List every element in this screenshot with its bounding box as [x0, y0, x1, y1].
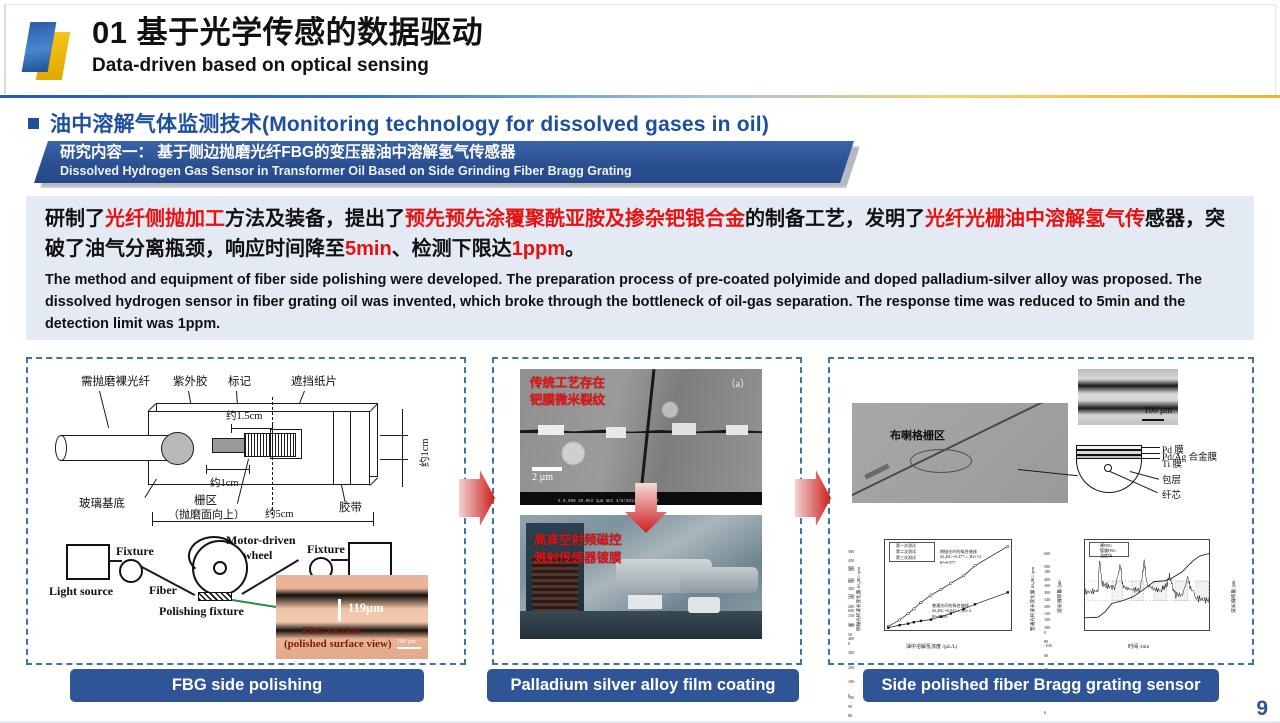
lab-annotation-line2: 溅射传感器镀膜 — [534, 549, 622, 567]
layer-leader — [1142, 458, 1160, 459]
page-title-cn: 01 基于光学传感的数据驱动 — [92, 14, 483, 52]
axis-tick-label: 160 — [1044, 583, 1058, 588]
bragg-zone-label: 布喇格栅区 — [890, 427, 945, 443]
axis-tick-label: 450 — [848, 558, 862, 563]
chart-response: 波长偏移量 /pm 波长偏移量 /pm 时间 /min 裸FBG 镀膜FBG 温… — [1044, 531, 1240, 659]
summary-text-en: The method and equipment of fiber side p… — [45, 269, 1245, 335]
chart-b-plot — [1084, 539, 1210, 631]
axis-tick-label: 800 — [848, 579, 862, 584]
caption-sensor: Side polished fiber Bragg grating sensor — [863, 669, 1219, 702]
dim-line — [231, 428, 273, 429]
axis-tick-label: 200 — [1044, 604, 1058, 609]
panel-fbg-side-polishing: 需抛磨裸光纤 紫外胶 标记 遮挡纸片 — [26, 357, 466, 665]
label-marker: 标记 — [228, 373, 251, 389]
label-light-source: Light source — [49, 584, 113, 599]
pulley-left — [119, 559, 143, 583]
summary-highlight: 1ppm — [512, 238, 565, 260]
dim-line — [206, 469, 250, 470]
diameter-arrow-icon — [338, 599, 341, 621]
chart-a-xlabel: 油中溶解氢浓度 /(µL/L) — [906, 643, 957, 650]
lab-white-tray — [628, 595, 662, 609]
dim-ext-line — [380, 435, 408, 436]
axis-tick-label: 300 — [848, 586, 862, 591]
dim-tick — [249, 465, 250, 474]
dim-line — [152, 521, 374, 522]
sem-bright-flake — [606, 427, 626, 438]
fiber-path — [110, 560, 122, 562]
leader-line — [99, 391, 109, 428]
label-uv-glue: 紫外胶 — [173, 373, 208, 389]
panel-side-polished-sensor: 布喇格栅区 100 µm Pd 膜 Pd/Ag 合金膜 Ti 膜 包层 纤芯 — [828, 357, 1254, 665]
section-heading-text: 油中溶解气体监测技术(Monitoring technology for dis… — [50, 108, 769, 138]
inset-scalebar-label: 100 µm — [397, 639, 416, 645]
summary-text-cn: 研制了光纤侧抛加工方法及装备，提出了预先预先涂覆聚酰亚胺及掺杂钯银合金的制备工艺… — [45, 204, 1241, 264]
layer-label-ti: Ti 膜 — [1162, 456, 1182, 470]
bullet-square-icon — [28, 118, 39, 129]
summary-highlight: 5min — [345, 238, 392, 260]
axis-tick-label: 150 — [848, 613, 862, 618]
axis-tick-label: 500 — [848, 622, 862, 627]
sem-panel-tag: （a） — [726, 375, 750, 390]
axis-tick-label: 90 — [848, 704, 862, 709]
axis-tick-label: 400 — [1044, 577, 1058, 582]
label-glass-substrate: 玻璃基底 — [79, 495, 125, 511]
axis-tick-label: 6 — [1044, 710, 1058, 715]
lab-white-box — [688, 597, 720, 613]
sem-scale-label: 2 µm — [532, 472, 553, 483]
axis-tick-label: 0 — [1044, 630, 1058, 635]
dim-line-vertical — [402, 409, 403, 487]
chart-a-plot — [884, 539, 1012, 631]
dim-tick — [206, 465, 207, 474]
label-shield-paper: 遮挡纸片 — [291, 373, 337, 389]
inset-caption-2: (polished surface view) — [284, 638, 392, 650]
lab-chamber-tube — [680, 567, 758, 593]
axis-tick-label: 0 — [848, 693, 862, 698]
sem-bright-flake — [726, 425, 748, 435]
label-tape: 胶带 — [339, 499, 362, 515]
fiber-cylinder — [60, 435, 170, 461]
axis-tick-label: 80 — [1044, 639, 1058, 644]
layer-leader — [1142, 447, 1160, 448]
axis-tick-label: 400 — [848, 636, 862, 641]
fiber-end-ellipse — [55, 435, 67, 461]
power-meter-box — [348, 542, 392, 578]
layer-label-core: 纤芯 — [1162, 487, 1181, 501]
label-polishing-fixture: Polishing fixture — [159, 604, 244, 619]
label-motor-wheel-2: wheel — [243, 548, 272, 563]
lab-bench — [520, 611, 762, 639]
micrograph-scale-label: 100 µm — [1144, 405, 1172, 415]
tape-line — [333, 411, 334, 485]
dim-label-5cm: 约5cm — [265, 506, 294, 521]
axis-tick-label: 600 — [848, 608, 862, 613]
label-bare-fiber: 需抛磨裸光纤 — [81, 373, 150, 389]
page-title-en: Data-driven based on optical sensing — [92, 53, 483, 79]
fiber-path — [331, 559, 349, 561]
label-fiber: Fiber — [149, 583, 177, 598]
axis-tick-label: 500 — [848, 549, 862, 554]
summary-highlight: 光纤光栅油中溶解氢气传 — [925, 208, 1145, 230]
fbg-section-inset: 119µm FBG section (polished surface view… — [276, 575, 428, 659]
summary-plain: 研制了 — [45, 208, 105, 230]
dim-tick — [373, 512, 374, 526]
axis-tick-label: 100 — [1044, 617, 1058, 622]
uv-glue-blob — [161, 432, 194, 465]
dim-tick — [231, 424, 232, 433]
slide-header: 01 基于光学传感的数据驱动 Data-driven based on opti… — [0, 0, 1280, 96]
polishing-fixture-block — [198, 592, 232, 601]
shield-paper-rect — [270, 429, 302, 459]
layer-leader — [1142, 453, 1160, 454]
axis-tick-label: 300 — [848, 650, 862, 655]
bragg-zone-ellipse — [910, 449, 972, 473]
dim-label-1cm-v: 约1cm — [417, 438, 432, 467]
slab-edge — [370, 477, 379, 486]
summary-plain: 的制备工艺，发明了 — [745, 208, 925, 230]
lab-annotation-red: 高真空射频磁控 溅射传感器镀膜 — [534, 531, 622, 567]
layer-label-cladding: 包层 — [1162, 472, 1181, 486]
sem-scalebar — [532, 467, 562, 471]
axis-tick-label: 200 — [848, 665, 862, 670]
label-fixture-right: Fixture — [307, 542, 345, 557]
axis-tick-label: 300 — [1044, 590, 1058, 595]
lab-annotation-line1: 高真空射频磁控 — [534, 531, 622, 549]
inset-caption-1: FBG section — [302, 625, 360, 637]
summary-plain: 、检测下限达 — [392, 238, 512, 260]
axis-tick-label: 60 — [1044, 653, 1058, 658]
section-heading: 油中溶解气体监测技术(Monitoring technology for dis… — [28, 108, 769, 138]
sem-bright-flake — [538, 425, 564, 435]
axis-tick-label: 700 — [848, 593, 862, 598]
caption-fbg-side-polishing: FBG side polishing — [70, 669, 424, 702]
header-divider-gradient — [0, 95, 1280, 98]
label-fixture-left: Fixture — [116, 544, 154, 559]
label-motor-wheel-1: Motor-driven — [226, 533, 296, 548]
center-dashed-line — [272, 397, 273, 515]
dim-label-1-5cm: 约1.5cm — [226, 408, 262, 423]
dim-ext-line — [380, 459, 408, 460]
sem-bright-flake — [672, 423, 696, 435]
dim-tick — [272, 424, 273, 433]
chart-calibration: 侧抛光纤波长变化量 Δλ₁BG /pm 普通光纤波长变化量 Δλ₂BG /pm … — [848, 531, 1038, 659]
chart-b-ylabel-right: 波长偏移量 /pm — [1230, 580, 1237, 613]
banner-title-cn: 研究内容一： 基于侧边抛磨光纤FBG的变压器油中溶解氢气传感器 — [60, 143, 516, 163]
header-titles: 01 基于光学传感的数据驱动 Data-driven based on opti… — [92, 14, 483, 79]
inset-diameter-label: 119µm — [348, 601, 384, 616]
lab-photo: 高真空射频磁控 溅射传感器镀膜 — [520, 515, 762, 639]
research-banner: 研究内容一： 基于侧边抛磨光纤FBG的变压器油中溶解氢气传感器 Dissolve… — [34, 141, 854, 185]
axis-tick-label: 900 — [848, 565, 862, 570]
sem-annotation-line1: 传统工艺存在 — [530, 375, 605, 392]
fiber-micrograph: 100 µm — [1078, 369, 1178, 425]
summary-highlight: 光纤侧抛加工 — [105, 208, 225, 230]
marker-rect — [212, 438, 247, 453]
sem-annotation-red: 传统工艺存在 钯膜微米裂纹 — [530, 375, 605, 409]
summary-panel: 研制了光纤侧抛加工方法及装备，提出了预先预先涂覆聚酰亚胺及掺杂钯银合金的制备工艺… — [26, 196, 1254, 340]
summary-plain: 。 — [565, 238, 585, 260]
summary-plain: 方法及装备，提出了 — [225, 208, 405, 230]
chart-b-xlabel: 时间 /min — [1128, 643, 1149, 650]
page-number: 9 — [1256, 697, 1268, 721]
dim-tick — [152, 512, 153, 526]
fiber-photo: 布喇格栅区 — [852, 403, 1068, 503]
axis-tick-label: 100 — [848, 679, 862, 684]
axis-tick-label: 600 — [1044, 551, 1058, 556]
caption-palladium-coating: Palladium silver alloy film coating — [487, 669, 799, 702]
tape-line — [350, 411, 351, 485]
axis-tick-label: 80 — [848, 713, 862, 718]
label-grating-zone-sub: （抛磨面向上） — [168, 506, 245, 522]
summary-highlight: 预先预先涂覆聚酰亚胺及掺杂钯银合金 — [405, 208, 745, 230]
banner-title-en: Dissolved Hydrogen Gas Sensor in Transfo… — [60, 162, 632, 180]
axis-tick-label: 120 — [1044, 611, 1058, 616]
dim-label-1cm-h: 约1cm — [210, 475, 239, 490]
micrograph-scalebar — [1142, 419, 1164, 421]
axis-tick-label: 100 — [1044, 625, 1058, 630]
axis-tick-label: 140 — [1044, 597, 1058, 602]
slide: 01 基于光学传感的数据驱动 Data-driven based on opti… — [0, 0, 1280, 723]
inset-scalebar — [397, 647, 421, 649]
sem-annotation-line2: 钯膜微米裂纹 — [530, 392, 605, 409]
axis-tick-label: 180 — [1044, 569, 1058, 574]
logo-icon — [22, 16, 82, 80]
light-source-box — [66, 544, 110, 580]
chart-a-ylabel-right: 普通光纤波长变化量 Δλ₂BG /pm — [1030, 567, 1036, 631]
axis-tick-label: 0 — [848, 641, 862, 646]
